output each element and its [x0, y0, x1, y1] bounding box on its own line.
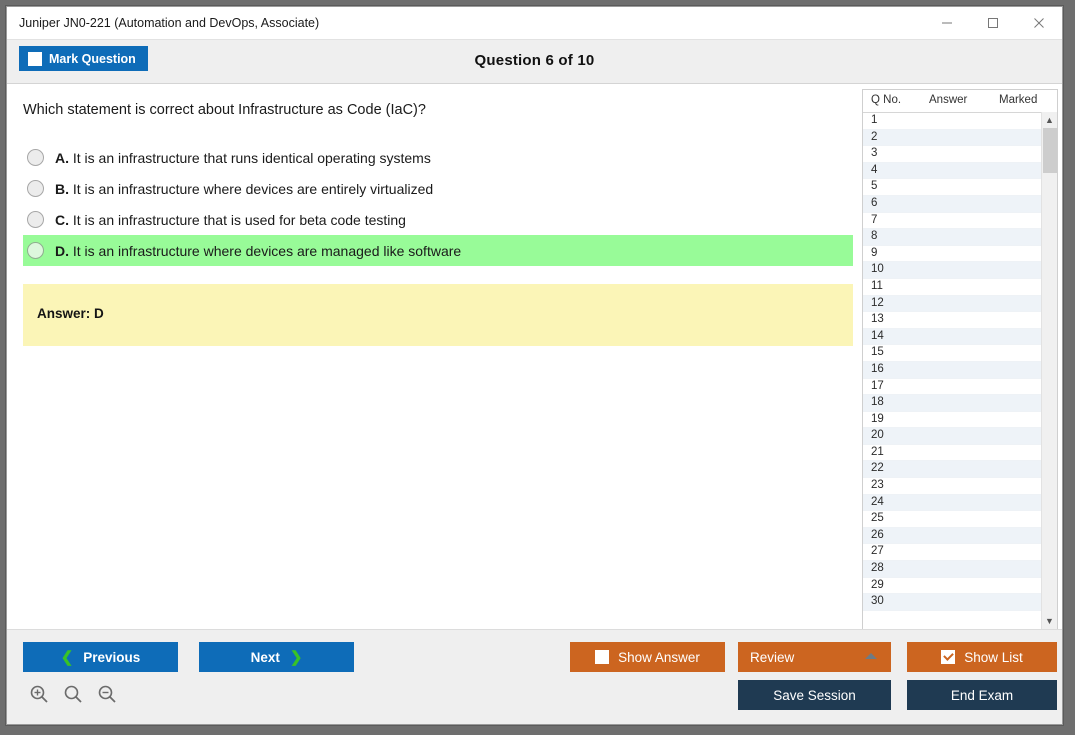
question-list-row-number: 27: [871, 545, 884, 557]
window-title: Juniper JN0-221 (Automation and DevOps, …: [19, 16, 319, 30]
question-list-row-number: 2: [871, 131, 877, 143]
question-list-row-number: 16: [871, 363, 884, 375]
question-list-row[interactable]: 27: [863, 544, 1057, 561]
question-list-row[interactable]: 26: [863, 528, 1057, 545]
question-list-row[interactable]: 10: [863, 262, 1057, 279]
title-bar: Juniper JN0-221 (Automation and DevOps, …: [7, 7, 1062, 40]
question-list-scrollbar[interactable]: ▲ ▼: [1041, 112, 1057, 629]
question-list-row-number: 22: [871, 462, 884, 474]
maximize-icon: [987, 17, 999, 29]
question-list-row[interactable]: 5: [863, 179, 1057, 196]
column-header-marked: Marked: [999, 94, 1037, 106]
question-list-row-number: 6: [871, 197, 877, 209]
chevron-right-icon: ❯: [290, 648, 303, 666]
show-list-checkbox[interactable]: [941, 650, 955, 664]
question-list-row[interactable]: 14: [863, 329, 1057, 346]
option-a-text: It is an infrastructure that runs identi…: [73, 150, 431, 166]
previous-button[interactable]: ❮ Previous: [23, 642, 178, 672]
save-session-button[interactable]: Save Session: [738, 680, 891, 710]
window-controls: [924, 7, 1062, 39]
question-list-row-number: 10: [871, 263, 884, 275]
option-d-letter: D.: [55, 243, 69, 259]
question-list-row-number: 7: [871, 214, 877, 226]
show-answer-label: Show Answer: [618, 650, 700, 665]
option-b-label: B. It is an infrastructure where devices…: [55, 181, 433, 197]
question-list-row[interactable]: 23: [863, 478, 1057, 495]
option-d-text: It is an infrastructure where devices ar…: [73, 243, 461, 259]
scrollbar-thumb[interactable]: [1043, 128, 1057, 173]
question-list-row[interactable]: 3: [863, 146, 1057, 163]
column-header-answer: Answer: [929, 94, 967, 106]
question-list-row[interactable]: 15: [863, 345, 1057, 362]
next-label: Next: [251, 650, 280, 665]
close-icon: [1033, 17, 1045, 29]
option-a[interactable]: A. It is an infrastructure that runs ide…: [23, 142, 853, 173]
option-c[interactable]: C. It is an infrastructure that is used …: [23, 204, 853, 235]
option-a-letter: A.: [55, 150, 69, 166]
answer-text: Answer: D: [37, 306, 104, 321]
next-button[interactable]: Next ❯: [199, 642, 354, 672]
scroll-down-icon[interactable]: ▼: [1042, 613, 1057, 629]
question-list-row[interactable]: 12: [863, 296, 1057, 313]
question-list-row-number: 11: [871, 280, 883, 292]
answer-box: Answer: D: [23, 284, 853, 346]
exam-simulator-window: Juniper JN0-221 (Automation and DevOps, …: [6, 6, 1063, 725]
option-b-text: It is an infrastructure where devices ar…: [73, 181, 433, 197]
show-list-label: Show List: [964, 650, 1023, 665]
question-list-panel: Q No. Answer Marked 12345678910111213141…: [862, 89, 1058, 630]
question-list-row-number: 3: [871, 147, 877, 159]
question-list-row[interactable]: 18: [863, 395, 1057, 412]
question-list-row[interactable]: 25: [863, 511, 1057, 528]
show-answer-button[interactable]: Show Answer: [570, 642, 725, 672]
end-exam-label: End Exam: [951, 688, 1013, 703]
question-list-row-number: 20: [871, 429, 884, 441]
radio-c[interactable]: [27, 211, 44, 228]
scroll-up-icon[interactable]: ▲: [1042, 112, 1057, 128]
save-session-label: Save Session: [773, 688, 856, 703]
question-list-row-number: 14: [871, 330, 884, 342]
review-label: Review: [750, 650, 794, 665]
question-list-row[interactable]: 7: [863, 213, 1057, 230]
show-answer-checkbox[interactable]: [595, 650, 609, 664]
question-list-row-number: 26: [871, 529, 884, 541]
page-title: Question 6 of 10: [7, 52, 1062, 69]
zoom-out-icon[interactable]: [97, 684, 117, 704]
minimize-button[interactable]: [924, 7, 970, 39]
question-list-row[interactable]: 8: [863, 229, 1057, 246]
question-list-row[interactable]: 16: [863, 362, 1057, 379]
radio-d[interactable]: [27, 242, 44, 259]
question-list-row-number: 23: [871, 479, 884, 491]
question-list-row-number: 25: [871, 512, 884, 524]
maximize-button[interactable]: [970, 7, 1016, 39]
question-list-row[interactable]: 21: [863, 445, 1057, 462]
zoom-in-icon[interactable]: [29, 684, 49, 704]
option-c-letter: C.: [55, 212, 69, 228]
question-text: Which statement is correct about Infrast…: [23, 102, 426, 118]
question-list-row-number: 15: [871, 346, 884, 358]
question-list-row-number: 24: [871, 496, 884, 508]
question-list-row-number: 30: [871, 595, 884, 607]
question-list-row[interactable]: 28: [863, 561, 1057, 578]
question-list-row-number: 1: [871, 114, 877, 126]
question-list-row[interactable]: 30: [863, 594, 1057, 611]
question-list-row-number: 13: [871, 313, 884, 325]
question-list-row[interactable]: 4: [863, 163, 1057, 180]
question-list-row-number: 4: [871, 164, 877, 176]
question-list-row[interactable]: 1: [863, 113, 1057, 130]
radio-b[interactable]: [27, 180, 44, 197]
option-a-label: A. It is an infrastructure that runs ide…: [55, 150, 431, 166]
chevron-up-icon: [865, 653, 877, 659]
question-list-row-number: 17: [871, 380, 884, 392]
question-list-row-number: 9: [871, 247, 877, 259]
question-list-row[interactable]: 2: [863, 130, 1057, 147]
question-list-row-number: 8: [871, 230, 877, 242]
option-d-label: D. It is an infrastructure where devices…: [55, 243, 461, 259]
question-list-row[interactable]: 24: [863, 495, 1057, 512]
options-list: A. It is an infrastructure that runs ide…: [23, 142, 853, 266]
show-list-button[interactable]: Show List: [907, 642, 1057, 672]
question-list-row-number: 19: [871, 413, 884, 425]
question-list-row[interactable]: 6: [863, 196, 1057, 213]
question-list-row[interactable]: 22: [863, 461, 1057, 478]
question-list-row[interactable]: 13: [863, 312, 1057, 329]
question-list-row[interactable]: 11: [863, 279, 1057, 296]
close-button[interactable]: [1016, 7, 1062, 39]
bottom-toolbar: ❮ Previous Next ❯ Show Answer Review Sho…: [7, 629, 1062, 724]
question-pane: Which statement is correct about Infrast…: [7, 84, 853, 629]
radio-a[interactable]: [27, 149, 44, 166]
option-d[interactable]: D. It is an infrastructure where devices…: [23, 235, 853, 266]
question-list-header: Q No. Answer Marked: [863, 90, 1057, 113]
previous-label: Previous: [83, 650, 140, 665]
question-list-row-number: 5: [871, 180, 877, 192]
question-list-row-number: 21: [871, 446, 884, 458]
minimize-icon: [941, 17, 953, 29]
question-list-row[interactable]: 29: [863, 578, 1057, 595]
question-list-row-number: 12: [871, 297, 884, 309]
option-c-text: It is an infrastructure that is used for…: [73, 212, 406, 228]
question-list-row[interactable]: 19: [863, 412, 1057, 429]
question-list-row[interactable]: 9: [863, 246, 1057, 263]
question-list-row-number: 18: [871, 396, 884, 408]
zoom-reset-icon[interactable]: [63, 684, 83, 704]
question-list-row[interactable]: 17: [863, 379, 1057, 396]
question-list-row-number: 29: [871, 579, 884, 591]
column-header-q-no: Q No.: [871, 94, 901, 106]
option-b-letter: B.: [55, 181, 69, 197]
chevron-left-icon: ❮: [61, 648, 74, 666]
end-exam-button[interactable]: End Exam: [907, 680, 1057, 710]
option-b[interactable]: B. It is an infrastructure where devices…: [23, 173, 853, 204]
question-header-bar: Mark Question Question 6 of 10: [7, 40, 1062, 84]
question-list-row[interactable]: 20: [863, 428, 1057, 445]
option-c-label: C. It is an infrastructure that is used …: [55, 212, 406, 228]
question-list-body[interactable]: 1234567891011121314151617181920212223242…: [863, 113, 1057, 629]
zoom-controls: [29, 684, 117, 704]
review-dropdown[interactable]: Review: [738, 642, 891, 672]
question-list-row-number: 28: [871, 562, 884, 574]
